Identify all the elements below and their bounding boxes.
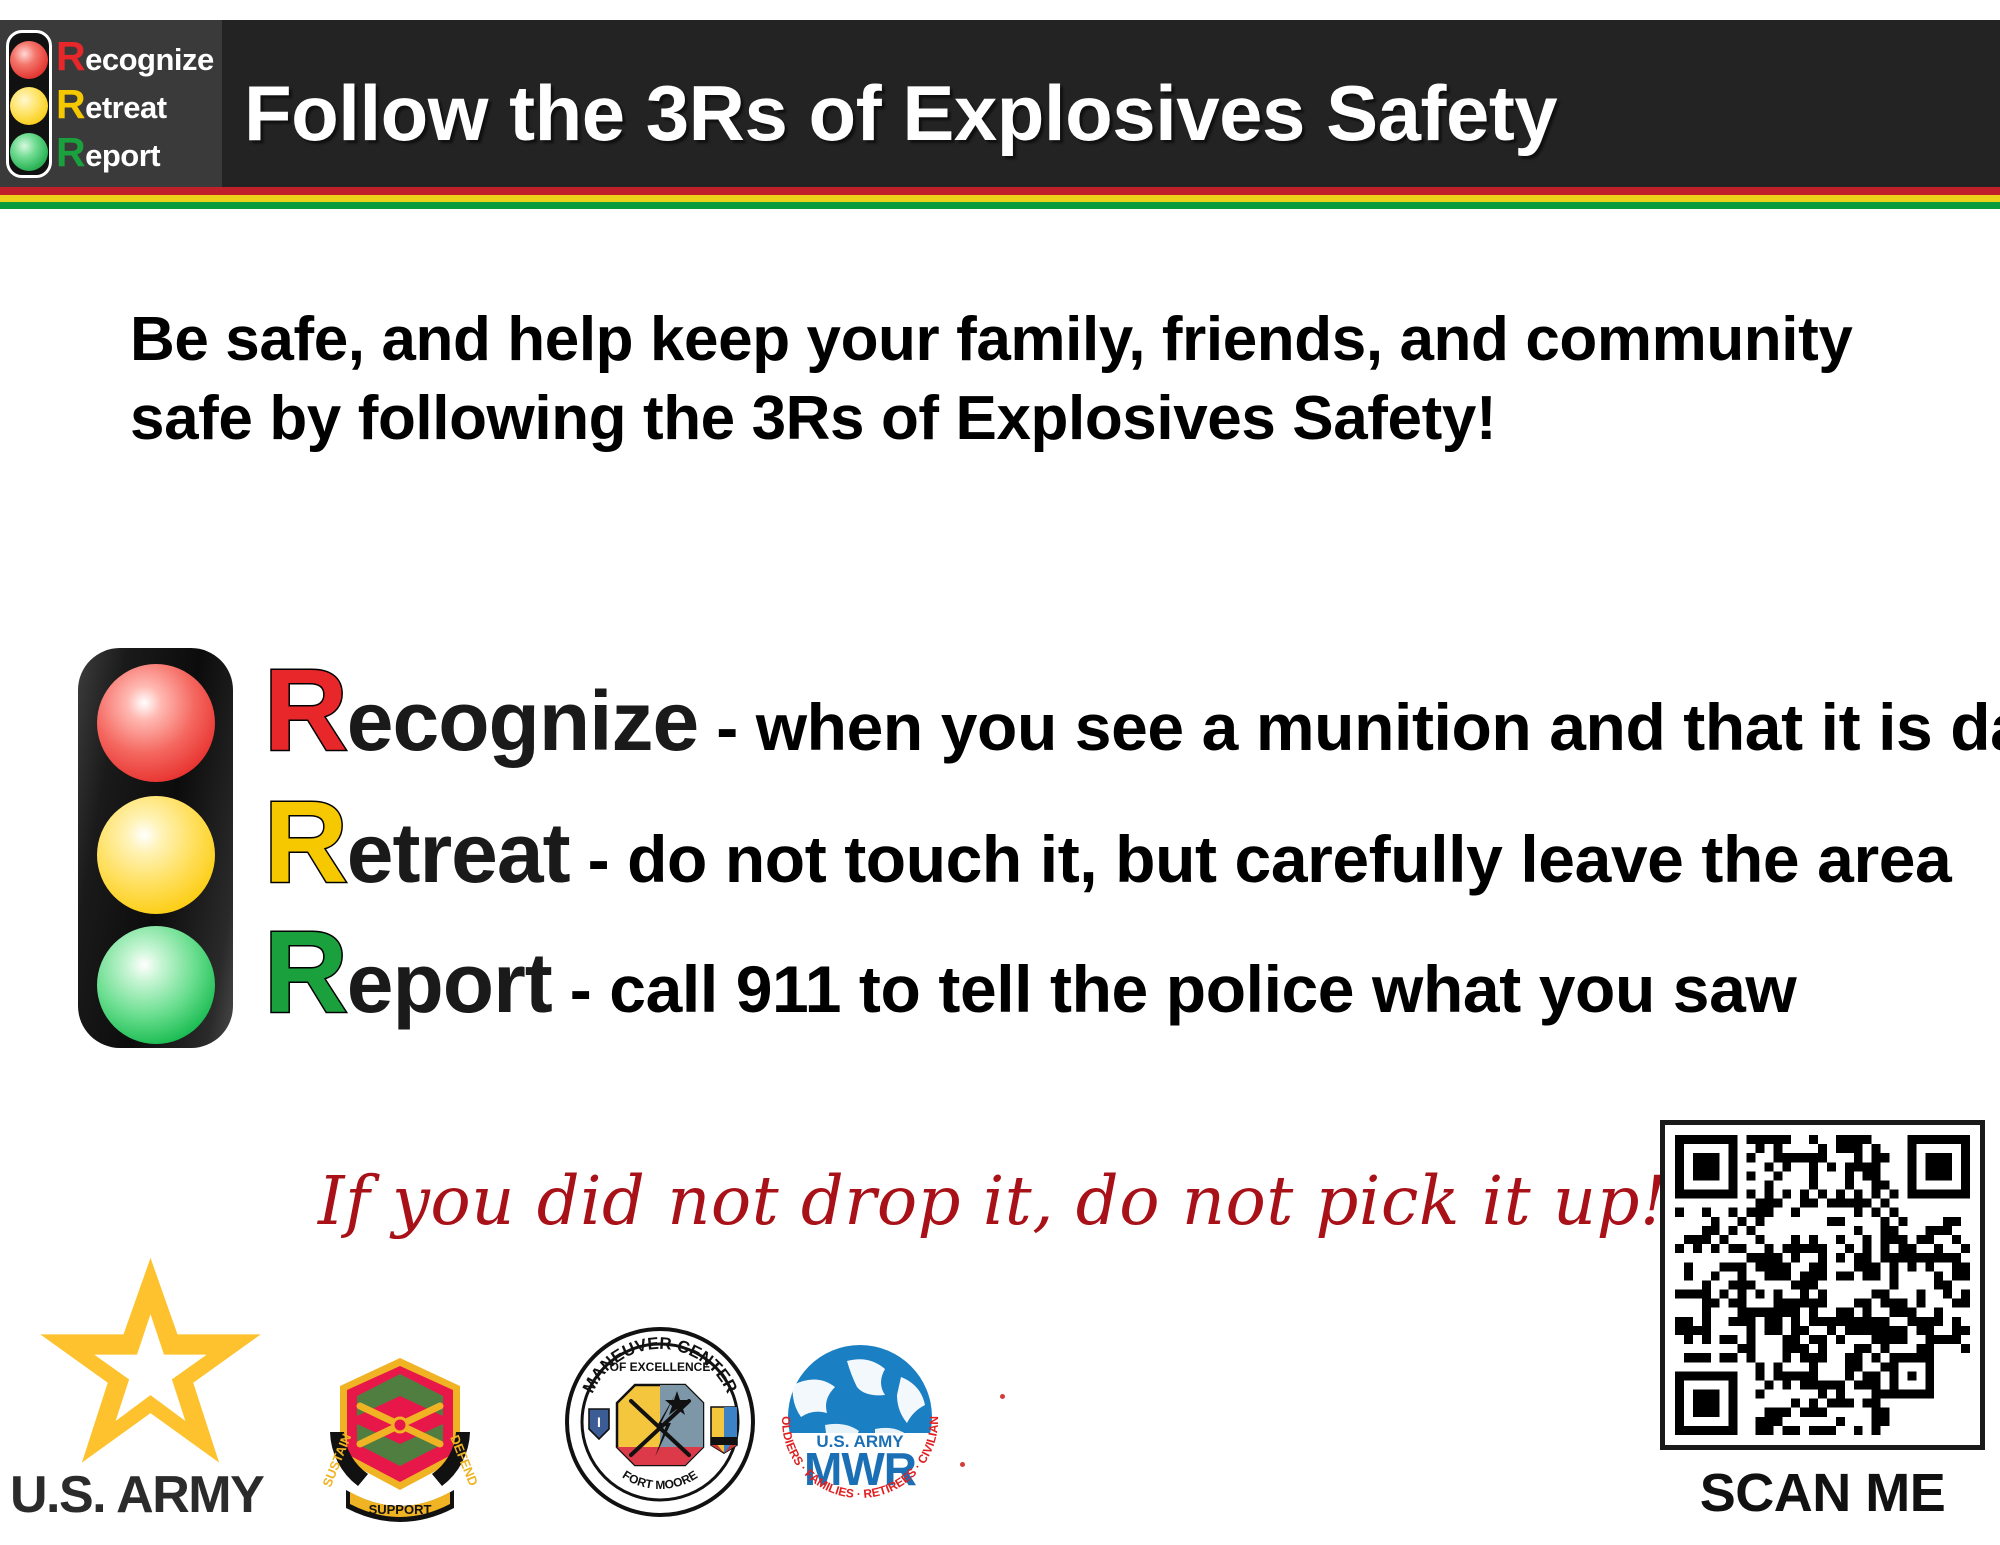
header-bar: Recognize Retreat Report Follow the 3Rs … bbox=[0, 20, 2000, 187]
three-rs-cap-recognize: R bbox=[264, 645, 347, 775]
three-rs-desc-report: - call 911 to tell the police what you s… bbox=[570, 956, 1797, 1022]
header-logo-word-report: Report bbox=[56, 132, 160, 173]
three-rs-word-recognize: Recognize bbox=[264, 652, 698, 768]
three-rs-rest-report: eport bbox=[347, 936, 552, 1030]
stripe-green bbox=[0, 202, 2000, 209]
traffic-light-red-lamp-small bbox=[10, 41, 48, 79]
poster-root: Recognize Retreat Report Follow the 3Rs … bbox=[0, 0, 2000, 1545]
header-logo-words: Recognize Retreat Report bbox=[56, 30, 206, 178]
header-logo-cap-r1: R bbox=[56, 33, 85, 79]
stripe-red bbox=[0, 187, 2000, 195]
qr-code-canvas[interactable] bbox=[1675, 1135, 1970, 1435]
svg-text:I: I bbox=[597, 1414, 601, 1430]
intro-line-2: safe by following the 3Rs of Explosives … bbox=[130, 379, 1930, 458]
qr-code[interactable] bbox=[1660, 1120, 1985, 1450]
header-logo-rest-1: ecognize bbox=[85, 42, 214, 77]
fort-moore-seal-icon: MANEUVER CENTER FORT MOORE OF EXCELLENCE… bbox=[565, 1325, 755, 1520]
fort-moore-sub-text: OF EXCELLENCE bbox=[610, 1360, 711, 1374]
us-army-wordmark: U.S. ARMY bbox=[10, 1465, 263, 1525]
three-rs-word-report: Report bbox=[264, 914, 552, 1030]
traffic-light-icon-small bbox=[6, 30, 52, 178]
three-rs-desc-retreat: - do not touch it, but carefully leave t… bbox=[588, 826, 1952, 892]
intro-paragraph: Be safe, and help keep your family, frie… bbox=[130, 300, 1930, 459]
three-rs-row-retreat: Retreat - do not touch it, but carefully… bbox=[264, 784, 1951, 900]
tagline: If you did not drop it, do not pick it u… bbox=[318, 1168, 1667, 1235]
army-star-icon bbox=[38, 1255, 263, 1470]
traffic-light-yellow-lamp-large bbox=[97, 796, 215, 914]
header-logo-word-recognize: Recognize bbox=[56, 36, 214, 77]
three-rs-row-report: Report - call 911 to tell the police wha… bbox=[264, 914, 1796, 1030]
scan-me-label: SCAN ME bbox=[1660, 1462, 1985, 1524]
artifact-speck bbox=[1000, 1394, 1005, 1399]
mwr-logo-icon: U.S. ARMY MWR SOLDIERS · FAMILIES · RETI… bbox=[765, 1325, 955, 1520]
header-logo-cap-r3: R bbox=[56, 129, 85, 175]
stripe-yellow bbox=[0, 195, 2000, 202]
three-rs-rest-recognize: ecognize bbox=[347, 674, 698, 768]
traffic-light-yellow-lamp-small bbox=[10, 87, 48, 125]
header-logo: Recognize Retreat Report bbox=[0, 20, 222, 187]
header-logo-rest-2: etreat bbox=[85, 90, 166, 125]
traffic-light-icon-large bbox=[78, 648, 233, 1048]
traffic-light-red-lamp-large bbox=[97, 664, 215, 782]
three-rs-word-retreat: Retreat bbox=[264, 784, 570, 900]
tricolor-stripe bbox=[0, 187, 2000, 209]
header-logo-word-retreat: Retreat bbox=[56, 84, 167, 125]
three-rs-block: Recognize - when you see a munition and … bbox=[78, 648, 1958, 1058]
traffic-light-green-lamp-large bbox=[97, 926, 215, 1044]
page-title: Follow the 3Rs of Explosives Safety bbox=[222, 56, 2000, 152]
header-logo-rest-3: eport bbox=[85, 138, 160, 173]
three-rs-row-recognize: Recognize - when you see a munition and … bbox=[264, 652, 2000, 768]
three-rs-cap-retreat: R bbox=[264, 777, 347, 907]
imcom-crest-icon: SUPPORT SUSTAIN DEFEND bbox=[310, 1340, 490, 1535]
three-rs-rest-retreat: etreat bbox=[347, 806, 570, 900]
artifact-speck bbox=[960, 1462, 965, 1467]
traffic-light-green-lamp-small bbox=[10, 133, 48, 171]
intro-line-1: Be safe, and help keep your family, frie… bbox=[130, 300, 1930, 379]
imcom-motto-support: SUPPORT bbox=[369, 1502, 432, 1517]
three-rs-cap-report: R bbox=[264, 907, 347, 1037]
three-rs-desc-recognize: - when you see a munition and that it is… bbox=[716, 694, 2000, 760]
header-logo-cap-r2: R bbox=[56, 81, 85, 127]
